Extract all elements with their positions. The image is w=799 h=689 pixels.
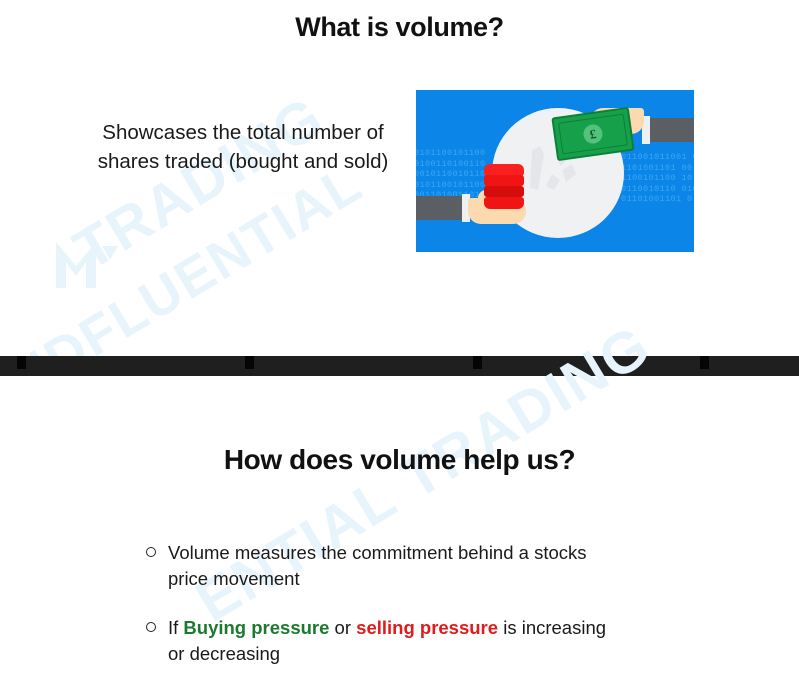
right-arm xyxy=(646,118,694,142)
watermark-trading-top: TRADING xyxy=(63,83,336,284)
bullet-marker-icon xyxy=(146,547,156,557)
bullet-segment-normal: If xyxy=(168,617,183,638)
coin-stack-icon xyxy=(484,164,524,208)
list-item: Volume measures the commitment behind a … xyxy=(146,540,616,593)
bullet-text-1: Volume measures the commitment behind a … xyxy=(168,542,587,589)
watermark-indfluential-top: INDFLUENTIAL xyxy=(0,152,373,356)
bullet-segment-sell: selling pressure xyxy=(356,617,498,638)
share-trade-illustration: 0101100101100 0100110100110 001011001011… xyxy=(416,90,694,252)
bullet-marker-icon xyxy=(146,622,156,632)
divider-notch xyxy=(17,356,26,369)
lead-paragraph: Showcases the total number of shares tra… xyxy=(78,118,408,176)
list-item: If Buying pressure or selling pressure i… xyxy=(146,615,616,668)
divider-notch xyxy=(473,356,482,369)
divider-notch xyxy=(245,356,254,369)
slide-divider-bar xyxy=(0,356,799,376)
divider-notch xyxy=(700,356,709,369)
watermark-logo-icon xyxy=(52,232,126,294)
page-title-top: What is volume? xyxy=(0,12,799,43)
bullet-list: Volume measures the commitment behind a … xyxy=(146,540,616,689)
bullet-segment-buy: Buying pressure xyxy=(183,617,329,638)
binary-digits-left: 0101100101100 0100110100110 001011001011… xyxy=(416,148,486,201)
bullet-segment-normal: Volume measures the commitment behind a … xyxy=(168,542,587,589)
binary-digits-right: 011001011001 0 1101001101 00 1100101100 … xyxy=(621,152,694,205)
left-arm xyxy=(416,196,466,220)
slide-what-is-volume: TRADING INDFLUENTIAL What is volume? Sho… xyxy=(0,0,799,356)
page-title-bottom: How does volume help us? xyxy=(0,444,799,476)
bullet-segment-normal: or xyxy=(329,617,356,638)
bullet-text-2: If Buying pressure or selling pressure i… xyxy=(168,617,606,664)
